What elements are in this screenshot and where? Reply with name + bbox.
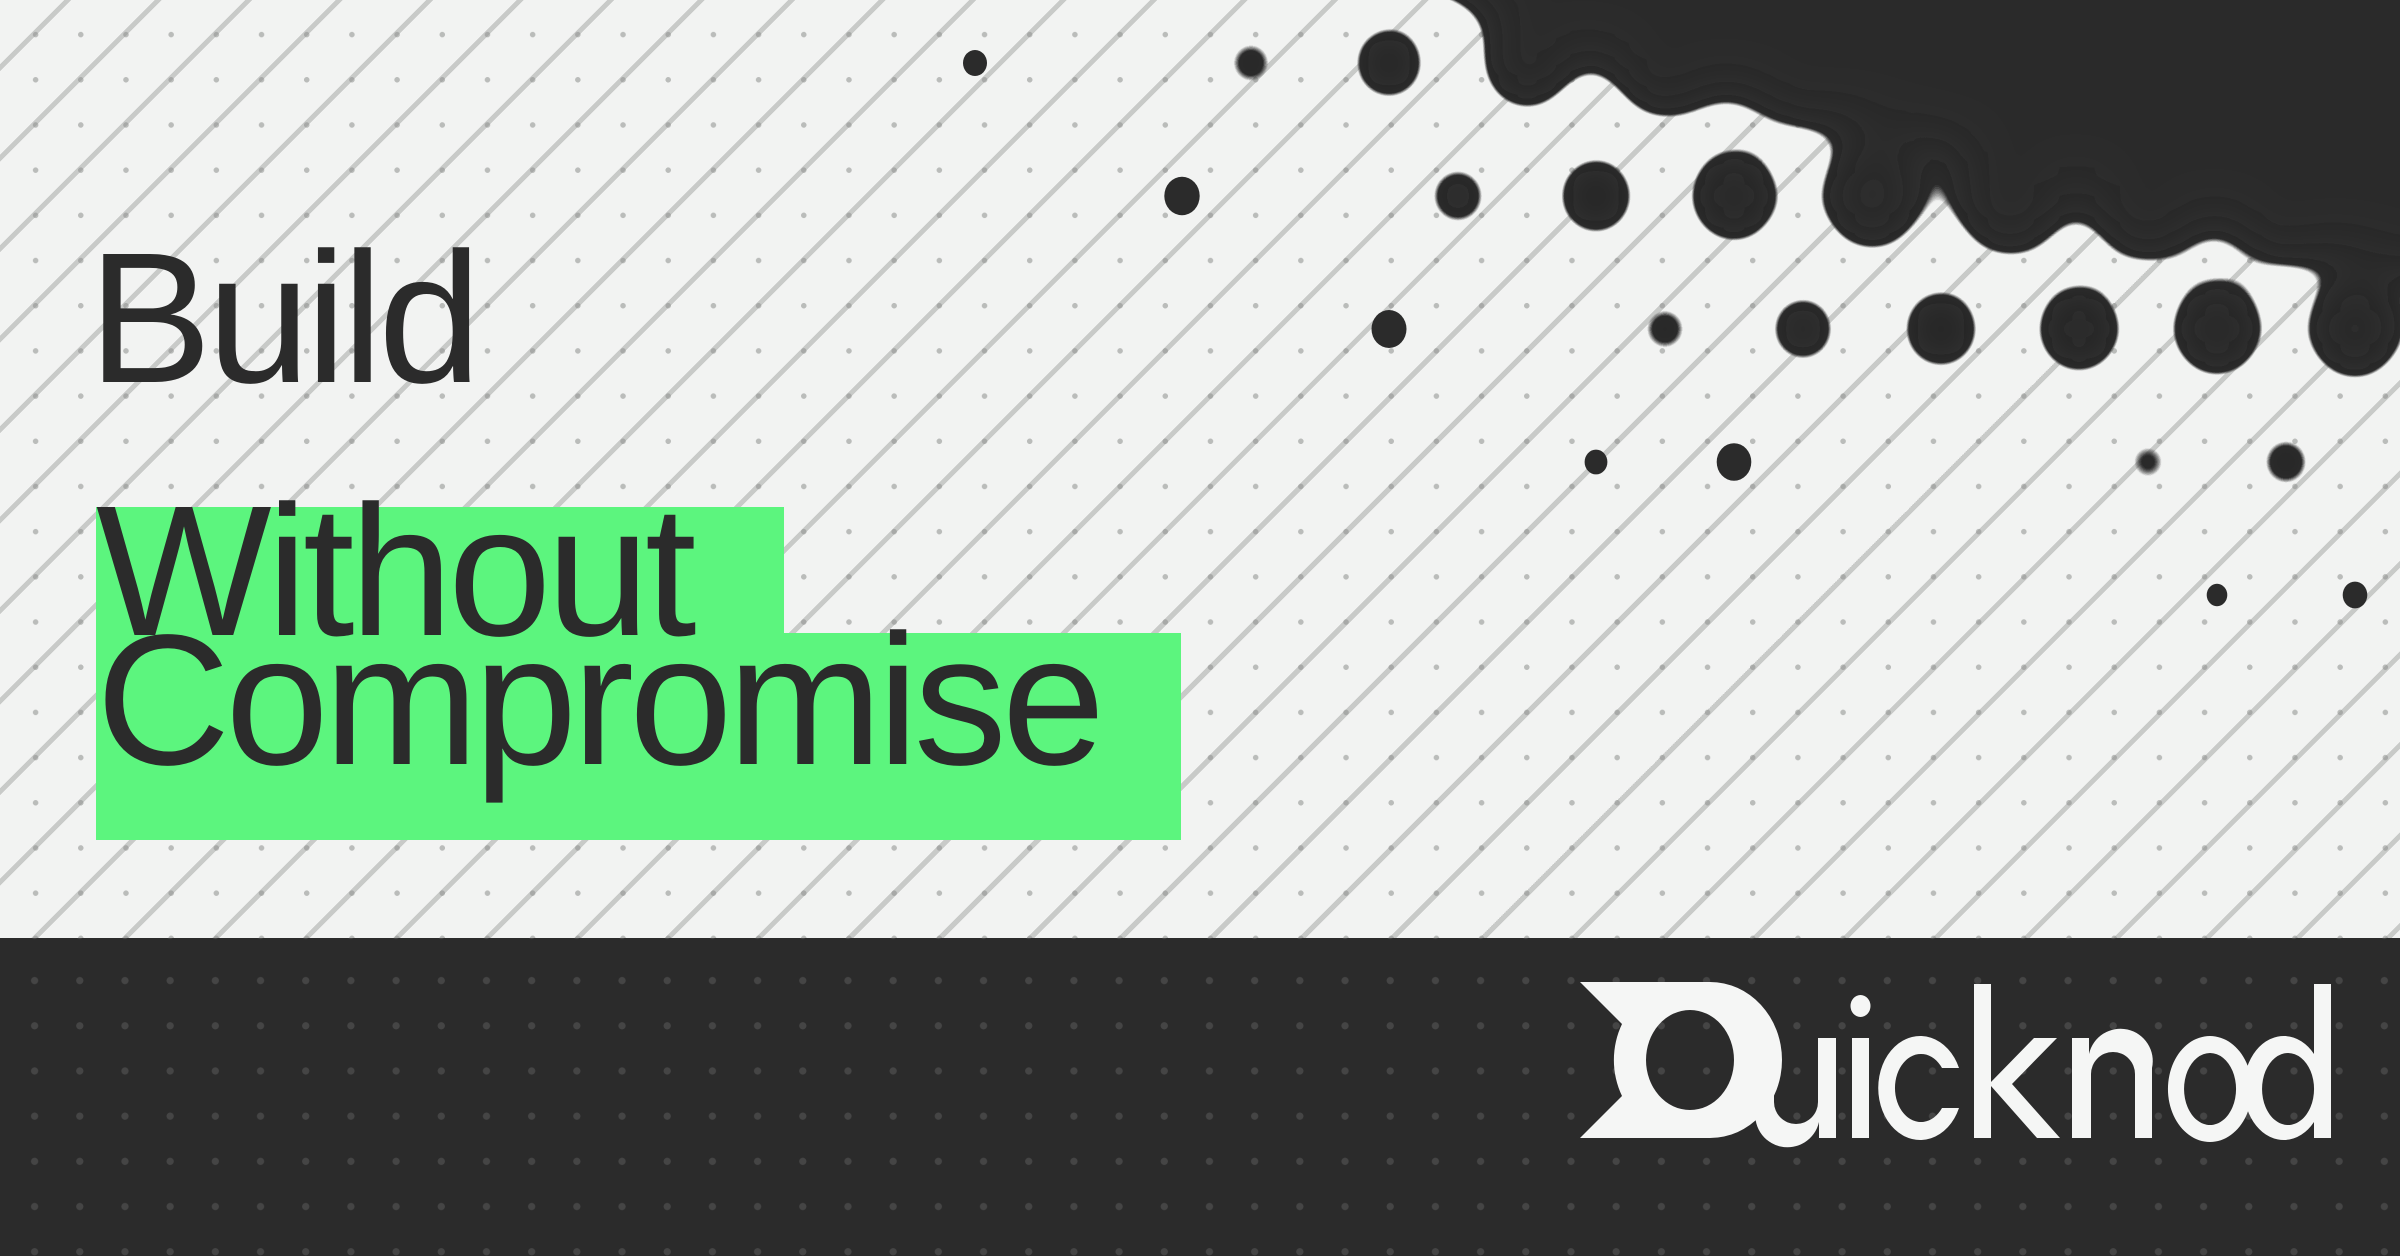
dark-footer-bar: Quicknode xyxy=(0,938,2400,1256)
light-background-panel: Build Without Compromise xyxy=(0,0,2400,938)
quicknode-logo[interactable]: Quicknode xyxy=(1560,976,2340,1156)
quicknode-wordmark-svg xyxy=(1560,976,2340,1156)
hero-banner: Build Without Compromise xyxy=(0,0,2400,1256)
headline-line-3: Compromise xyxy=(96,608,1100,794)
quicknode-q-icon xyxy=(1580,982,1782,1138)
headline-block: Build Without Compromise xyxy=(0,0,2400,938)
headline-line-1: Build xyxy=(88,226,477,412)
